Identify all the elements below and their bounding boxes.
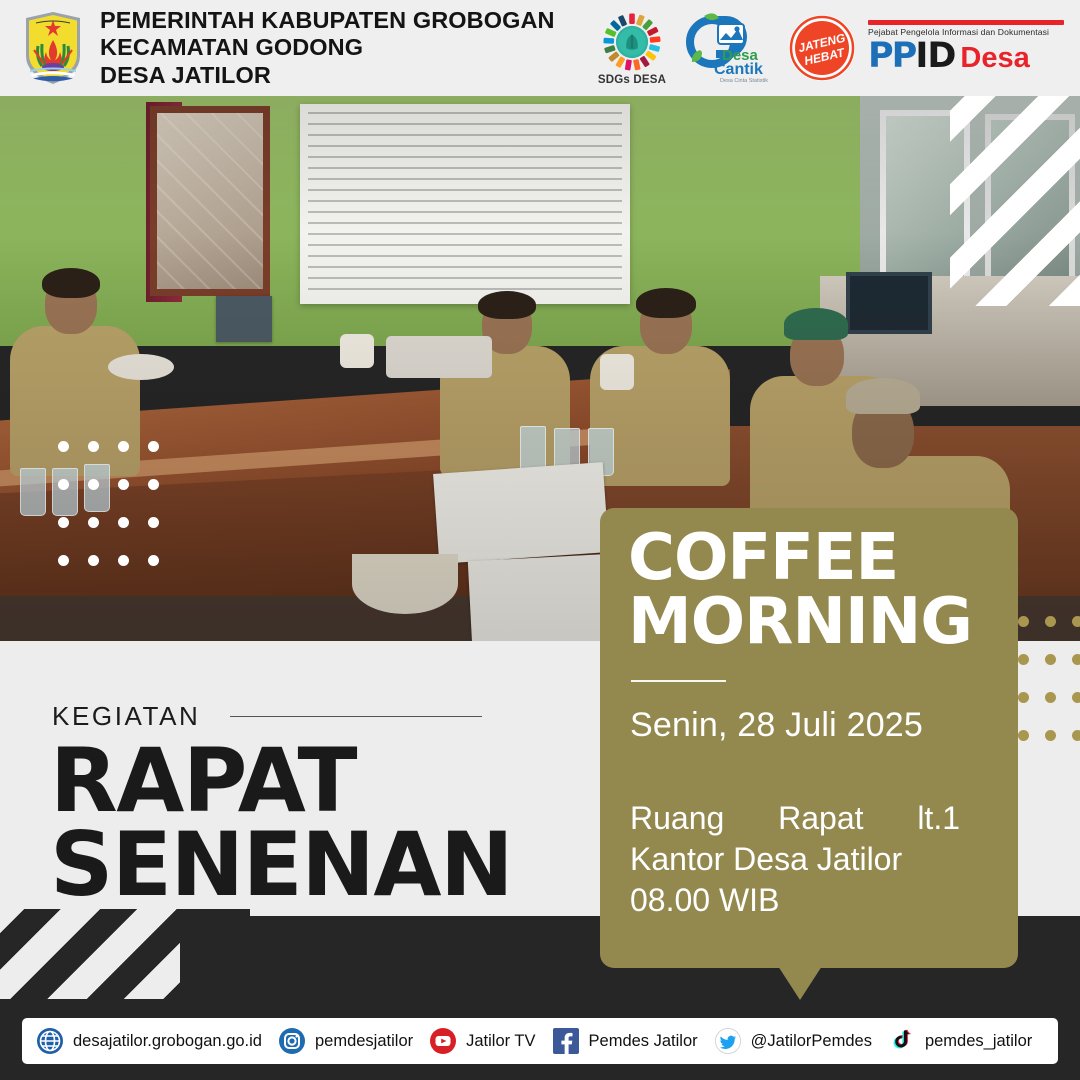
sdgs-wheel-icon — [601, 11, 663, 73]
dot — [58, 441, 69, 452]
dot — [88, 517, 99, 528]
dot — [118, 479, 129, 490]
dot — [1072, 616, 1080, 627]
dot — [88, 479, 99, 490]
twitter-icon — [714, 1027, 742, 1055]
poster-root: KEGIATAN RAPAT SENENAN COFFEE MORNING Se… — [0, 0, 1080, 1080]
page-title-line-1: RAPAT — [50, 739, 512, 823]
dot — [1072, 730, 1080, 741]
social-item-tiktok[interactable]: pemdes_jatilor — [888, 1027, 1032, 1055]
tiktok-icon — [888, 1027, 916, 1055]
grobogan-coat-of-arms-icon — [22, 10, 84, 86]
dot — [148, 441, 159, 452]
venue-word-2: Rapat — [778, 798, 863, 839]
dot — [148, 555, 159, 566]
svg-text:Cantik: Cantik — [714, 61, 763, 78]
page-title: RAPAT SENENAN — [50, 739, 512, 908]
decorative-stripes-top-right — [950, 96, 1080, 306]
venue-word-3: lt.1 — [917, 798, 960, 839]
ppid-red-bar — [868, 20, 1064, 25]
ppid-wordmark: PP ID Desa — [868, 36, 1064, 76]
header-bar: PEMERINTAH KABUPATEN GROBOGAN KECAMATAN … — [0, 0, 1080, 96]
social-item-facebook[interactable]: Pemdes Jatilor — [552, 1027, 698, 1055]
card-title-line-1: COFFEE — [628, 526, 972, 590]
header-line-1: PEMERINTAH KABUPATEN GROBOGAN — [100, 7, 555, 34]
social-label-facebook: Pemdes Jatilor — [589, 1032, 698, 1051]
social-item-youtube[interactable]: Jatilor TV — [429, 1027, 535, 1055]
ppid-desa-logo: Pejabat Pengelola Informasi dan Dokument… — [868, 20, 1064, 76]
dot — [1045, 730, 1056, 741]
dot — [58, 479, 69, 490]
partner-logos: SDGs DESA Desa Cantik Desa Cinta Statist… — [592, 10, 1064, 86]
sdgs-desa-label: SDGs DESA — [592, 74, 672, 86]
event-detail-card: COFFEE MORNING Senin, 28 Juli 2025 Ruang… — [600, 508, 1018, 968]
dot — [1018, 616, 1029, 627]
youtube-icon — [429, 1027, 457, 1055]
dot — [1045, 692, 1056, 703]
venue-line-2: Kantor Desa Jatilor — [630, 839, 980, 880]
social-item-website[interactable]: desajatilor.grobogan.go.id — [36, 1027, 262, 1055]
decorative-dot-grid-left — [58, 441, 166, 571]
header-line-3: DESA JATILOR — [100, 62, 555, 89]
header-title-block: PEMERINTAH KABUPATEN GROBOGAN KECAMATAN … — [100, 7, 555, 89]
dot — [88, 441, 99, 452]
ppid-pp-text: PP — [868, 36, 915, 76]
dot — [118, 517, 129, 528]
dot — [58, 555, 69, 566]
dot — [88, 555, 99, 566]
dot — [58, 517, 69, 528]
venue-word-1: Ruang — [630, 798, 724, 839]
globe-icon — [36, 1027, 64, 1055]
dot — [1045, 616, 1056, 627]
sdgs-desa-logo: SDGs DESA — [592, 11, 672, 86]
social-label-twitter: @JatilorPemdes — [751, 1032, 872, 1051]
decorative-block-bottom-left — [180, 909, 250, 999]
social-label-instagram: pemdesjatilor — [315, 1032, 413, 1051]
dot — [118, 441, 129, 452]
svg-text:Desa Cinta Statistik: Desa Cinta Statistik — [720, 78, 768, 84]
social-item-instagram[interactable]: pemdesjatilor — [278, 1027, 413, 1055]
venue-line-3: 08.00 WIB — [630, 880, 980, 921]
card-title: COFFEE MORNING — [628, 526, 972, 654]
social-label-website: desajatilor.grobogan.go.id — [73, 1032, 262, 1051]
venue-line-1: Ruang Rapat lt.1 — [630, 798, 960, 839]
social-footer-bar: desajatilor.grobogan.go.id pemdesjatilor — [22, 1018, 1058, 1064]
facebook-icon — [552, 1027, 580, 1055]
dot — [148, 517, 159, 528]
eyebrow-label: KEGIATAN — [52, 701, 200, 732]
dot — [1072, 654, 1080, 665]
card-divider — [631, 680, 726, 682]
eyebrow-rule — [230, 716, 482, 717]
social-label-youtube: Jatilor TV — [466, 1032, 535, 1051]
social-label-tiktok: pemdes_jatilor — [925, 1032, 1032, 1051]
dot — [1018, 654, 1029, 665]
jateng-hebat-logo: JATENG HEBAT — [786, 12, 858, 84]
social-item-twitter[interactable]: @JatilorPemdes — [714, 1027, 872, 1055]
event-date: Senin, 28 Juli 2025 — [630, 706, 923, 745]
ppid-desa-text: Desa — [960, 42, 1029, 75]
ppid-id-text: ID — [915, 36, 955, 76]
card-pointer — [778, 966, 822, 1000]
dot — [1045, 654, 1056, 665]
card-title-line-2: MORNING — [628, 590, 972, 654]
dot — [1018, 692, 1029, 703]
dot — [148, 479, 159, 490]
event-venue: Ruang Rapat lt.1 Kantor Desa Jatilor 08.… — [630, 798, 980, 921]
dot — [1018, 730, 1029, 741]
instagram-icon — [278, 1027, 306, 1055]
eyebrow-row: KEGIATAN — [52, 701, 482, 732]
decorative-dot-grid-right — [1018, 616, 1080, 746]
desa-cantik-logo: Desa Cantik Desa Cinta Statistik — [682, 10, 776, 86]
dot — [1072, 692, 1080, 703]
decorative-stripes-bottom-left — [0, 909, 200, 999]
header-line-2: KECAMATAN GODONG — [100, 34, 555, 61]
page-title-line-2: SENENAN — [50, 823, 512, 907]
dot — [118, 555, 129, 566]
